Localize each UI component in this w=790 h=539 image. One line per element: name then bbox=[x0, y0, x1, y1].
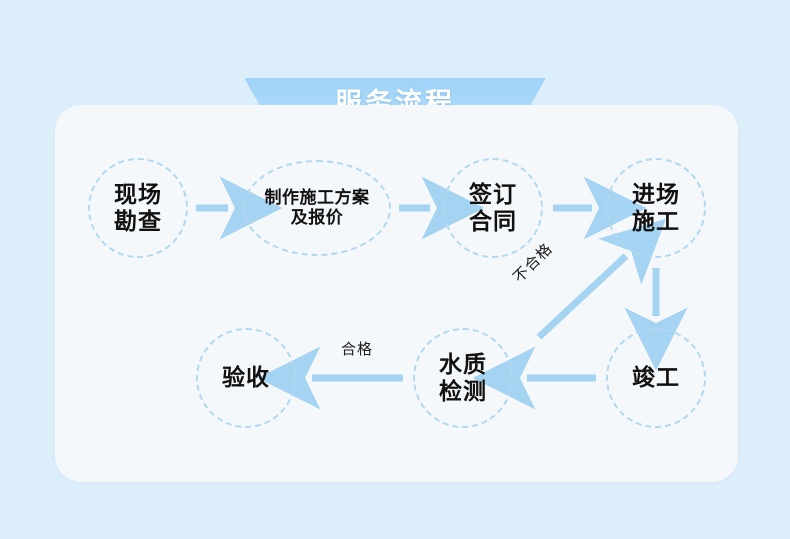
flow-node-accept-label: 验收 bbox=[222, 364, 270, 391]
flow-node-complete-label: 竣工 bbox=[632, 364, 680, 391]
flow-node-plan-label: 制作施工方案 及报价 bbox=[265, 188, 370, 228]
flow-node-survey-label: 现场 勘查 bbox=[114, 181, 162, 235]
flow-node-contract-label: 签订 合同 bbox=[469, 181, 517, 235]
flowchart-page: 服务流程 bbox=[0, 0, 790, 539]
edge-label-pass: 合格 bbox=[341, 338, 373, 359]
flow-node-complete[interactable]: 竣工 bbox=[606, 328, 706, 428]
flow-node-enter-label: 进场 施工 bbox=[632, 181, 680, 235]
flow-node-water-label: 水质 检测 bbox=[439, 351, 487, 405]
flow-node-water[interactable]: 水质 检测 bbox=[413, 328, 513, 428]
flow-node-accept[interactable]: 验收 bbox=[196, 328, 296, 428]
flow-node-plan[interactable]: 制作施工方案 及报价 bbox=[243, 160, 391, 256]
flow-node-survey[interactable]: 现场 勘查 bbox=[88, 158, 188, 258]
flow-node-enter[interactable]: 进场 施工 bbox=[606, 158, 706, 258]
flow-node-contract[interactable]: 签订 合同 bbox=[443, 158, 543, 258]
